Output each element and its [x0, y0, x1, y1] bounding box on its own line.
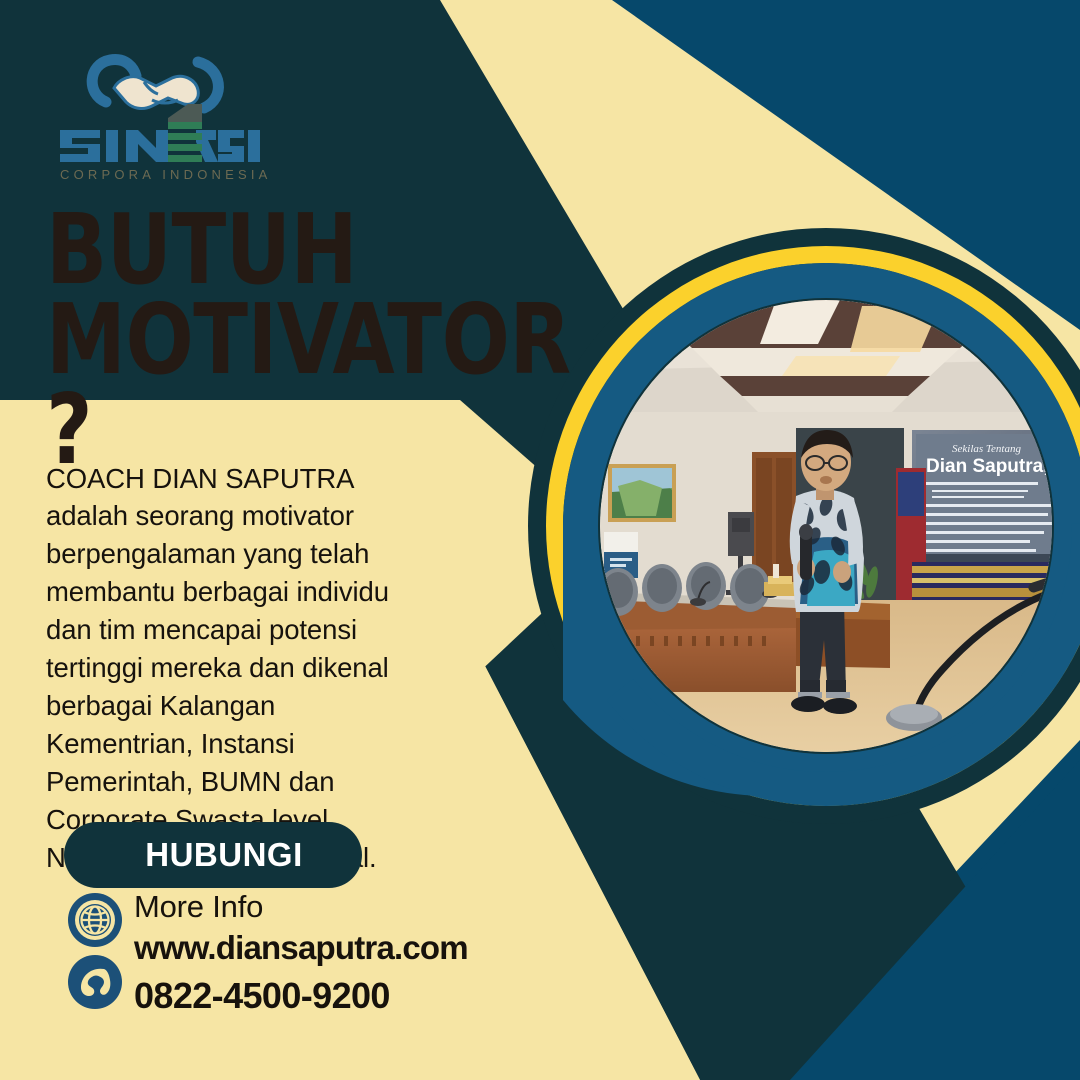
handshake-icon — [92, 59, 218, 108]
globe-icon[interactable] — [68, 893, 122, 947]
contact-text: More Info www.diansaputra.com 0822-4500-… — [134, 889, 468, 1017]
logo-bars — [168, 104, 202, 162]
projection-slide: Sekilas Tentang Dian Saputra, — [912, 430, 1052, 562]
description-text: COACH DIAN SAPUTRA adalah seorang motiva… — [46, 460, 418, 877]
photo-content: Sekilas Tentang Dian Saputra, — [600, 300, 1052, 752]
headline-line-1: BUTUH — [46, 205, 524, 295]
logo-tagline: CORPORA INDONESIA — [60, 167, 272, 182]
slide-subtitle: Sekilas Tentang — [952, 443, 1021, 455]
slide-title: Dian Saputra, — [926, 456, 1048, 477]
logo-wordmark — [60, 130, 260, 162]
hubungi-button-label: HUBUNGI — [123, 836, 303, 874]
phone-icon[interactable] — [68, 955, 122, 1009]
phone-number[interactable]: 0822-4500-9200 — [134, 974, 468, 1017]
speaker-photo: Sekilas Tentang Dian Saputra, — [600, 300, 1052, 752]
brand-logo[interactable]: CORPORA INDONESIA — [48, 42, 278, 182]
hubungi-button[interactable]: HUBUNGI — [64, 822, 362, 888]
page-title: BUTUH MOTIVATOR ? — [46, 205, 524, 476]
poster-canvas: CORPORA INDONESIA BUTUH MOTIVATOR ? COAC… — [0, 0, 1080, 1080]
contact-icons — [68, 893, 128, 1009]
wall-painting — [608, 464, 676, 522]
more-info-label: More Info — [134, 889, 468, 926]
headline-line-2: MOTIVATOR ? — [46, 295, 524, 475]
website-link[interactable]: www.diansaputra.com — [134, 928, 468, 968]
